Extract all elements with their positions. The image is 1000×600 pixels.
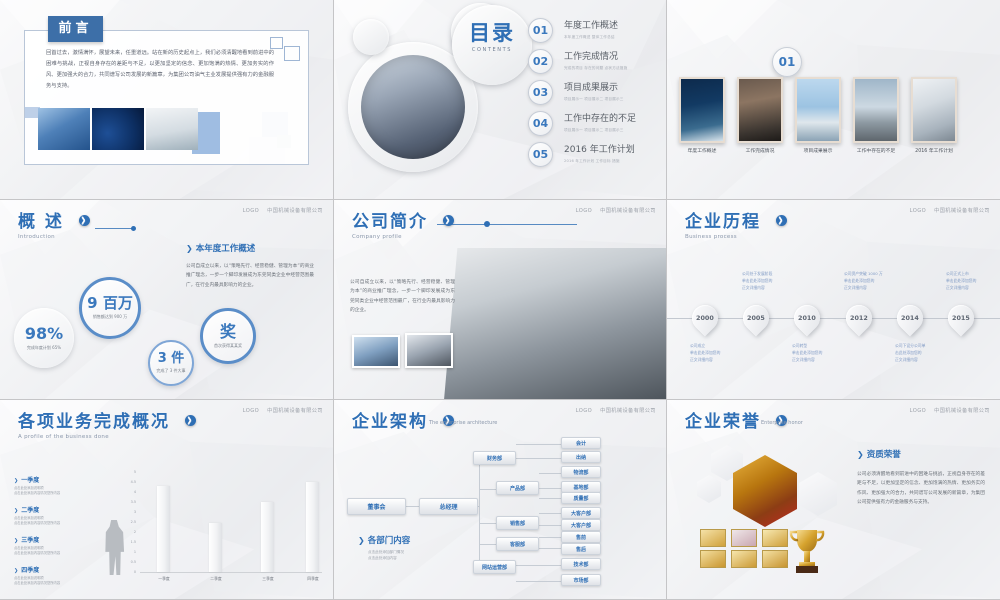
photo-office [146, 108, 198, 150]
photo-bridge [795, 77, 841, 143]
brand-name: 中国机械设备有限公司 [934, 407, 990, 414]
timeline-year: 2010 [798, 314, 816, 322]
section-card-caption: 工作完成情况 [737, 147, 783, 154]
contents-title-en: CONTENTS [452, 47, 532, 53]
brand-name: 中国机械设备有限公司 [600, 207, 656, 214]
section-card-4[interactable]: 工作中存在的不足 [853, 77, 899, 154]
timeline-text-2000: 公司成立 单击此处添加您的 正文详细内容 [690, 342, 720, 363]
header-title-en: Company profile [352, 234, 454, 240]
toc-item-05[interactable]: 05 2016 年工作计划 2016 年工作计划 工作目标 措施 [528, 142, 635, 167]
toc-item-04[interactable]: 04 工作中存在的不足 项目展示一 项目展示二 项目展示三 [528, 111, 636, 136]
timeline-text-2015: 公司正式上市 单击此处添加您的 正文详细内容 [946, 270, 976, 291]
section-card-3[interactable]: 项目成果展示 [795, 77, 841, 154]
org-leaf-key-account-2[interactable]: 大客户部 [561, 519, 601, 531]
timeline-text-2012: 公司资产突破 1000 万 单击此处添加您的 正文详细内容 [844, 270, 883, 291]
header-title-text: 概 述 [18, 212, 64, 232]
org-node-product[interactable]: 产品部 [496, 481, 539, 495]
org-node-web-ops[interactable]: 网站运营部 [473, 560, 516, 574]
bar-q4 [306, 482, 319, 572]
toc-subtitle: 项目展示一 项目展示二 项目展示三 [564, 128, 636, 133]
quarter-title: ❯一季度 [14, 475, 60, 484]
chevron-right-icon[interactable]: ❯ [776, 215, 787, 226]
connector [539, 537, 561, 538]
stat-bubble-2: 9 百万 销售额达到 900 万 [79, 277, 141, 339]
header-title-text: 企业历程 [685, 212, 761, 232]
y-tick-0: 0 [126, 570, 136, 574]
header-rule-dot [131, 226, 136, 231]
photo-meeting-room [911, 77, 957, 143]
brand-logo: LOGO [243, 208, 260, 214]
timeline-year: 2015 [952, 314, 970, 322]
org-leaf-accounting[interactable]: 会计 [561, 437, 601, 449]
org-node-finance[interactable]: 财务部 [473, 451, 516, 465]
contents-title: 目录 CONTENTS [452, 23, 532, 53]
toc-number: 04 [528, 111, 553, 136]
section-badge-01: 01 [772, 47, 802, 77]
y-tick-4-5: 4.5 [126, 480, 136, 484]
x-label-q4: 四季度 [293, 576, 333, 582]
toc-number: 05 [528, 142, 553, 167]
header-title-en: Enterprise honor [761, 420, 803, 426]
brand-name: 中国机械设备有限公司 [600, 407, 656, 414]
stat-bubble-4: 奖 首次获得某某奖 [200, 308, 256, 364]
slide-business-done[interactable]: LOGO 中国机械设备有限公司 各项业务完成概况 ❯ A profile of … [0, 400, 334, 600]
note-lines: 点击此处添加部门情况 点击此处添加内容 [368, 549, 410, 562]
side-heading: ❯资质荣誉 [857, 448, 985, 460]
timeline-text-2005: 公司处于发展阶段 单击此处添加您的 正文详细内容 [742, 270, 772, 291]
slide-introduction[interactable]: LOGO 中国机械设备有限公司 概 述 ❯ Introduction 98% 完… [0, 200, 334, 400]
stat-label: 首次获得某某奖 [214, 343, 242, 348]
section-card-caption: 年度工作概述 [679, 147, 725, 154]
photo-team-handshake [361, 55, 465, 159]
brand-logo-row: LOGO 中国机械设备有限公司 [576, 207, 656, 214]
toc-subtitle: 项目展示一 项目展示二 项目展示三 [564, 97, 624, 102]
section-card-caption: 项目成果展示 [795, 147, 841, 154]
header-rule [437, 224, 577, 225]
slide-header: 公司简介 ❯ Company profile [352, 214, 454, 240]
chevron-right-icon: ❯ [14, 508, 18, 514]
slide-header: 各项业务完成概况 ❯ A profile of the business don… [18, 414, 196, 440]
preface-tab-label: 前言 [48, 16, 103, 42]
x-label-q3: 三季度 [248, 576, 288, 582]
photo-team-small-1 [352, 335, 400, 368]
photo-boardroom [444, 248, 667, 400]
quarter-sub: 点击此处添加说明项 点击此处添加内容情况您所内容 [14, 546, 60, 557]
timeline-text-2010: 公司转型 单击此处添加您的 正文详细内容 [792, 342, 822, 363]
introduction-side-panel: ❯本年度工作概述 公司自成立以来，以“策略先行、经营稳健、管理为本”的商业推广理… [186, 242, 314, 290]
quarter-title: ❯四季度 [14, 565, 60, 574]
connector [539, 473, 561, 474]
org-node-ceo[interactable]: 总经理 [419, 498, 478, 515]
section-card-1[interactable]: 年度工作概述 [679, 77, 725, 154]
quarter-item-2[interactable]: ❯二季度 点击此处添加说明项 点击此处添加内容情况您所内容 [14, 505, 60, 527]
header-title-en: Business process [685, 234, 787, 240]
brand-logo: LOGO [576, 208, 593, 214]
section-card-2[interactable]: 工作完成情况 [737, 77, 783, 154]
y-tick-2: 2 [126, 530, 136, 534]
connector [406, 506, 419, 507]
header-title-en: Introduction [18, 234, 90, 240]
org-leaf-cashier[interactable]: 出纳 [561, 451, 601, 463]
section-card-caption: 工作中存在的不足 [853, 147, 899, 154]
org-leaf-presales[interactable]: 售前 [561, 531, 601, 543]
toc-title: 年度工作概述 [564, 21, 618, 32]
chevron-right-icon: ❯ [14, 478, 18, 484]
stat-value: 3 件 [158, 352, 185, 365]
org-leaf-key-account-1[interactable]: 大客户部 [561, 507, 601, 519]
connector [539, 525, 561, 526]
stat-label: 完成了 3 件大事 [156, 368, 185, 373]
brand-logo-row: LOGO 中国机械设备有限公司 [243, 207, 323, 214]
side-body: 公司自成立以来，以“策略先行、经营稳健、管理为本”的商业推广理念，一步一个脚印发… [186, 262, 314, 290]
header-title-zh: 企业历程 ❯ [685, 214, 787, 231]
certificate-grid [700, 529, 790, 568]
connector [516, 444, 561, 445]
chevron-right-icon: ❯ [186, 244, 193, 253]
slide-honor[interactable]: LOGO 中国机械设备有限公司 企业荣誉 ❯ Enterprise honor [667, 400, 1000, 600]
connector [539, 488, 561, 489]
connector [516, 565, 561, 566]
timeline-year: 2012 [850, 314, 868, 322]
org-leaf-marketing[interactable]: 市场部 [561, 574, 601, 586]
quarter-title: ❯三季度 [14, 535, 60, 544]
certificate [731, 529, 757, 547]
honor-side-panel: ❯资质荣誉 公司必须清醒地看到前进中的困难与挑战，正视自身存在的差距与不足，以更… [857, 448, 985, 508]
slide-business-process[interactable]: LOGO 中国机械设备有限公司 企业历程 ❯ Business process … [667, 200, 1000, 400]
certificate [700, 529, 726, 547]
side-heading: ❯本年度工作概述 [186, 242, 314, 254]
chevron-right-icon: ❯ [14, 538, 18, 544]
org-leaf-quality[interactable]: 质量部 [561, 492, 601, 504]
toc-subtitle: 完成的项目 存在的问题 点状方法措施 [564, 66, 627, 71]
photo-oil-pump [679, 77, 725, 143]
slide-header: 概 述 ❯ Introduction [18, 214, 90, 240]
header-rule-dot [484, 221, 490, 227]
brand-logo: LOGO [243, 408, 260, 414]
bar-chart: 5 4.5 4 3.5 3 2.5 2 1.5 1 0.5 0 一季度 二季度 … [126, 472, 324, 582]
x-axis [140, 572, 322, 573]
header-title-text: 公司简介 [352, 212, 428, 232]
photo-team-small-2 [405, 333, 453, 368]
header-title-text: 各项业务完成概况 [18, 412, 170, 432]
side-body: 公司必须清醒地看到前进中的困难与挑战，正视自身存在的差距与不足，以更加坚定的信念… [857, 470, 985, 508]
org-node-sales[interactable]: 销售部 [496, 516, 539, 530]
stat-label: 销售额达到 900 万 [93, 314, 127, 319]
side-heading-text: 本年度工作概述 [196, 244, 256, 254]
quarter-item-4[interactable]: ❯四季度 点击此处添加说明项 点击此处添加内容情况您所内容 [14, 565, 60, 587]
photo-torch [737, 77, 783, 143]
toc-number: 03 [528, 80, 553, 105]
slide-deck-grid: 前言 回首过去，激情满怀，展望未来，任重道远。站在新的历史起点上，我们必须清醒地… [0, 0, 1000, 600]
stat-bubble-3: 3 件 完成了 3 件大事 [148, 340, 194, 386]
connector [516, 458, 561, 459]
connector [539, 513, 561, 514]
preface-image-strip [38, 108, 198, 150]
y-tick-5: 5 [126, 470, 136, 474]
bar-q2 [209, 523, 222, 572]
x-label-q1: 一季度 [144, 576, 184, 582]
quarter-item-3[interactable]: ❯三季度 点击此处添加说明项 点击此处添加内容情况您所内容 [14, 535, 60, 557]
quarter-title: ❯二季度 [14, 505, 60, 514]
certificate [762, 550, 788, 568]
decor-circle-small [353, 19, 389, 55]
brand-logo: LOGO [910, 408, 927, 414]
slide-preface[interactable]: 前言 回首过去，激情满怀，展望未来，任重道远。站在新的历史起点上，我们必须清醒地… [0, 0, 334, 200]
trophy-icon [787, 526, 827, 578]
brand-name: 中国机械设备有限公司 [267, 207, 323, 214]
connector [539, 498, 561, 499]
certificate [731, 550, 757, 568]
toc-title: 工作中存在的不足 [564, 114, 636, 125]
y-tick-3: 3 [126, 510, 136, 514]
timeline-year: 2005 [747, 314, 765, 322]
y-tick-1-5: 1.5 [126, 540, 136, 544]
section-card-5[interactable]: 2016 年工作计划 [911, 77, 957, 154]
photo-building [38, 108, 90, 150]
header-title-text: 企业荣誉 [685, 412, 761, 432]
toc-subtitle: 2016 年工作计划 工作目标 措施 [564, 159, 635, 164]
slide-company-profile[interactable]: LOGO 中国机械设备有限公司 公司简介 ❯ Company profile 公… [334, 200, 667, 400]
x-label-q2: 二季度 [196, 576, 236, 582]
connector [516, 581, 561, 582]
toc-number: 02 [528, 49, 553, 74]
chevron-right-icon: ❯ [14, 568, 18, 574]
org-leaf-technical[interactable]: 技术部 [561, 558, 601, 570]
brand-logo-row: LOGO 中国机械设备有限公司 [910, 407, 990, 414]
header-rule [95, 228, 133, 229]
stat-value: 9 百万 [87, 296, 133, 311]
org-node-service[interactable]: 客服部 [496, 537, 539, 551]
toc-title: 项目成果展示 [564, 83, 624, 94]
y-tick-1: 1 [126, 550, 136, 554]
brand-name: 中国机械设备有限公司 [267, 407, 323, 414]
slide-section-one[interactable]: 01 年度工作概述 工作完成情况 项目成果展示 工作中存在的不足 2016 年工… [667, 0, 1000, 200]
slide-header: 企业历程 ❯ Business process [685, 214, 787, 240]
brand-logo-row: LOGO 中国机械设备有限公司 [576, 407, 656, 414]
company-body: 公司自成立以来，以“策略先行、经营稳健、管理为本”的商业推广理念，一步一个脚印发… [350, 278, 455, 316]
section-card-caption: 2016 年工作计划 [911, 147, 957, 154]
toc-number: 01 [528, 18, 553, 43]
chevron-right-icon: ❯ [358, 536, 365, 545]
photo-globe [92, 108, 144, 150]
toc-title: 工作完成情况 [564, 52, 627, 63]
quarter-sub: 点击此处添加说明项 点击此处添加内容情况您所内容 [14, 486, 60, 497]
stat-bubble-1: 98% 完成年度计划 65% [14, 308, 74, 368]
stat-value: 98% [25, 326, 63, 342]
chevron-right-icon: ❯ [857, 450, 864, 459]
certificate [762, 529, 788, 547]
header-title-text: 企业架构 [352, 412, 428, 432]
chevron-right-icon[interactable]: ❯ [79, 215, 90, 226]
note-heading: ❯各部门内容 [358, 534, 410, 546]
y-tick-2-5: 2.5 [126, 520, 136, 524]
bar-q3 [261, 502, 274, 572]
toc-item-03[interactable]: 03 项目成果展示 项目展示一 项目展示二 项目展示三 [528, 80, 624, 105]
connector-trunk [479, 458, 480, 568]
org-leaf-logistics[interactable]: 物流部 [561, 466, 601, 478]
toc-item-02[interactable]: 02 工作完成情况 完成的项目 存在的问题 点状方法措施 [528, 49, 627, 74]
header-title-en: The enterprise architecture [429, 420, 497, 426]
timeline-text-2014: 公司下设分公司单 击此处添加您的 正文详细内容 [895, 342, 925, 363]
slide-architecture[interactable]: LOGO 中国机械设备有限公司 企业架构 ❯ The enterprise ar… [334, 400, 667, 600]
org-node-board[interactable]: 董事会 [347, 498, 406, 515]
brand-logo-row: LOGO 中国机械设备有限公司 [243, 407, 323, 414]
connector [539, 548, 561, 549]
bar-q1 [157, 486, 170, 572]
brand-logo-row: LOGO 中国机械设备有限公司 [910, 207, 990, 214]
contents-title-zh: 目录 [452, 23, 532, 44]
header-title-en: A profile of the business done [18, 434, 196, 440]
photo-airplane [853, 77, 899, 143]
brand-logo: LOGO [576, 408, 593, 414]
toc-title: 2016 年工作计划 [564, 145, 635, 156]
decor-outline-square-2 [284, 46, 300, 61]
chevron-right-icon[interactable]: ❯ [185, 415, 196, 426]
slide-contents[interactable]: 目录 CONTENTS 01 年度工作概述 本年度工作概述 整体工作总结 02 … [334, 0, 667, 200]
org-leaf-aftersales[interactable]: 售后 [561, 543, 601, 555]
quarter-item-1[interactable]: ❯一季度 点击此处添加说明项 点击此处添加内容情况您所内容 [14, 475, 60, 497]
timeline-year: 2000 [696, 314, 714, 322]
brand-name: 中国机械设备有限公司 [934, 207, 990, 214]
header-title-zh: 各项业务完成概况 ❯ [18, 414, 196, 431]
header-title-zh: 公司简介 ❯ [352, 214, 454, 231]
toc-subtitle: 本年度工作概述 整体工作总结 [564, 35, 618, 40]
certificate [700, 550, 726, 568]
brand-logo: LOGO [910, 208, 927, 214]
quarter-sub: 点击此处添加说明项 点击此处添加内容情况您所内容 [14, 576, 60, 587]
quarter-sub: 点击此处添加说明项 点击此处添加内容情况您所内容 [14, 516, 60, 527]
stat-label: 完成年度计划 65% [27, 345, 61, 350]
stat-value: 奖 [220, 324, 236, 340]
y-tick-4: 4 [126, 490, 136, 494]
architecture-note: ❯各部门内容 点击此处添加部门情况 点击此处添加内容 [358, 534, 410, 562]
y-tick-0-5: 0.5 [126, 560, 136, 564]
timeline-year: 2014 [901, 314, 919, 322]
y-tick-3-5: 3.5 [126, 500, 136, 504]
side-heading-text: 资质荣誉 [867, 450, 901, 460]
toc-item-01[interactable]: 01 年度工作概述 本年度工作概述 整体工作总结 [528, 18, 618, 43]
header-title-zh: 概 述 ❯ [18, 214, 90, 231]
preface-body: 回首过去，激情满怀，展望未来，任重道远。站在新的历史起点上，我们必须清醒地看到前… [46, 48, 274, 91]
